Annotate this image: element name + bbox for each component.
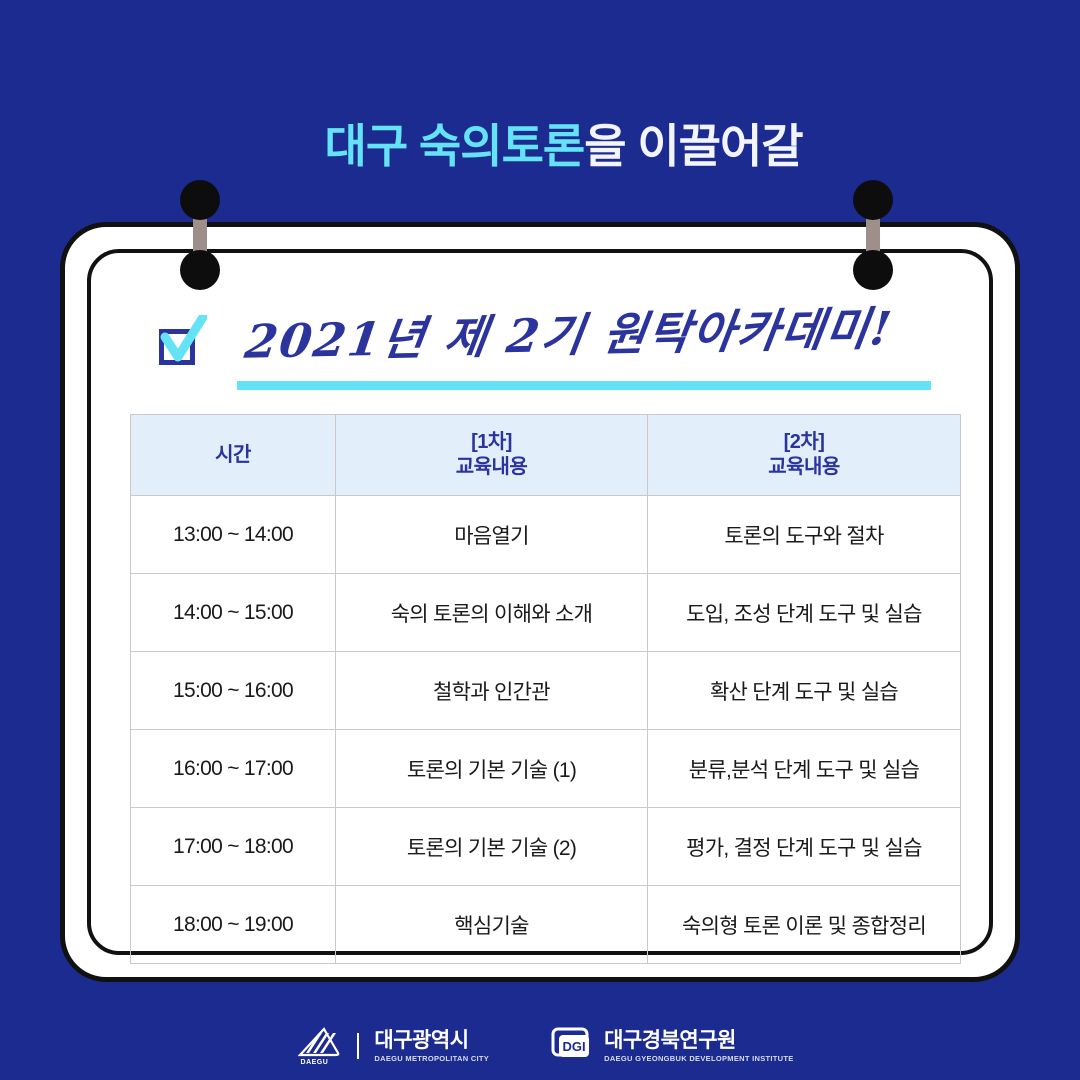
headline-line-1-cyan: 대구 숙의토론 <box>325 120 585 172</box>
column-header-course-1: [1차] 교육내용 <box>336 415 648 496</box>
checkbox-checked-icon <box>155 321 201 367</box>
logo-dgi-en: DAEGU GYEONGBUK DEVELOPMENT INSTITUTE <box>604 1055 793 1063</box>
cell-course-2: 확산 단계 도구 및 실습 <box>648 652 961 730</box>
binder-clip-left-knob-top <box>180 180 220 220</box>
logo-daegu-en: DAEGU METROPOLITAN CITY <box>374 1055 489 1063</box>
table-row: 16:00 ~ 17:00 토론의 기본 기술 (1) 분류,분석 단계 도구 … <box>131 730 961 808</box>
table-header-row: 시간 [1차] 교육내용 [2차] 교육내용 <box>131 415 961 496</box>
daegu-triangle-logo-icon: DAEGU <box>286 1026 342 1066</box>
cell-course-1: 숙의 토론의 이해와 소개 <box>336 574 648 652</box>
binder-clip-left <box>180 180 220 290</box>
headline-line-1-white: 을 이끌어갈 <box>584 120 802 172</box>
binder-clip-left-knob-bottom <box>180 250 220 290</box>
column-header-course-2-line2: 교육내용 <box>649 455 959 480</box>
binder-clip-right <box>853 180 893 290</box>
logo-divider <box>357 1033 359 1059</box>
headline-line-1: 대구 숙의토론을 이끌어갈 <box>0 72 1080 221</box>
column-header-course-2: [2차] 교육내용 <box>648 415 961 496</box>
cell-time: 14:00 ~ 15:00 <box>131 574 336 652</box>
binder-clip-right-knob-bottom <box>853 250 893 290</box>
cell-time: 13:00 ~ 14:00 <box>131 496 336 574</box>
section-title-underline <box>237 381 931 390</box>
logo-daegu-kr: 대구광역시 <box>374 1030 489 1051</box>
logo-daegu-metropolitan-city: DAEGU 대구광역시 DAEGU METROPOLITAN CITY <box>286 1026 489 1066</box>
section-title: 2021년 제 2기 원탁아카데미! <box>241 292 897 371</box>
table-row: 18:00 ~ 19:00 핵심기술 숙의형 토론 이론 및 종합정리 <box>131 886 961 964</box>
column-header-course-1-line1: [1차] <box>337 430 646 455</box>
cell-course-2: 도입, 조성 단계 도구 및 실습 <box>648 574 961 652</box>
binder-clip-right-knob-top <box>853 180 893 220</box>
daegu-mark-label: DAEGU <box>301 1059 329 1066</box>
dgi-square-logo-icon: DGI <box>551 1027 595 1066</box>
schedule-card: 2021년 제 2기 원탁아카데미! 시간 [1차] 교육내용 [2차] 교육내… <box>60 222 1020 982</box>
cell-course-1: 핵심기술 <box>336 886 648 964</box>
svg-text:DGI: DGI <box>563 1039 586 1054</box>
cell-course-1: 토론의 기본 기술 (2) <box>336 808 648 886</box>
column-header-course-2-line1: [2차] <box>649 430 959 455</box>
logo-dgi-kr: 대구경북연구원 <box>604 1030 793 1051</box>
cell-time: 18:00 ~ 19:00 <box>131 886 336 964</box>
cell-course-2: 평가, 결정 단계 도구 및 실습 <box>648 808 961 886</box>
logo-daegu-text: 대구광역시 DAEGU METROPOLITAN CITY <box>374 1030 489 1063</box>
footer-logos: DAEGU 대구광역시 DAEGU METROPOLITAN CITY DGI … <box>0 1026 1080 1066</box>
column-header-time: 시간 <box>131 415 336 496</box>
logo-dgi-text: 대구경북연구원 DAEGU GYEONGBUK DEVELOPMENT INST… <box>604 1030 793 1063</box>
column-header-course-1-line2: 교육내용 <box>337 455 646 480</box>
daegu-triangle-glyph <box>286 1026 342 1058</box>
cell-course-1: 철학과 인간관 <box>336 652 648 730</box>
cell-course-2: 분류,분석 단계 도구 및 실습 <box>648 730 961 808</box>
cell-time: 17:00 ~ 18:00 <box>131 808 336 886</box>
logo-daegu-gyeongbuk-development-institute: DGI 대구경북연구원 DAEGU GYEONGBUK DEVELOPMENT … <box>551 1027 793 1066</box>
cell-course-1: 마음열기 <box>336 496 648 574</box>
table-row: 13:00 ~ 14:00 마음열기 토론의 도구와 절차 <box>131 496 961 574</box>
table-row: 14:00 ~ 15:00 숙의 토론의 이해와 소개 도입, 조성 단계 도구… <box>131 574 961 652</box>
table-row: 15:00 ~ 16:00 철학과 인간관 확산 단계 도구 및 실습 <box>131 652 961 730</box>
check-mark-icon <box>155 315 207 367</box>
table-row: 17:00 ~ 18:00 토론의 기본 기술 (2) 평가, 결정 단계 도구… <box>131 808 961 886</box>
cell-time: 15:00 ~ 16:00 <box>131 652 336 730</box>
schedule-table: 시간 [1차] 교육내용 [2차] 교육내용 13:00 ~ 14:00 마음열… <box>130 414 961 964</box>
cell-time: 16:00 ~ 17:00 <box>131 730 336 808</box>
dgi-square-glyph: DGI <box>551 1027 595 1061</box>
cell-course-1: 토론의 기본 기술 (1) <box>336 730 648 808</box>
table-body: 13:00 ~ 14:00 마음열기 토론의 도구와 절차 14:00 ~ 15… <box>131 496 961 964</box>
table-header: 시간 [1차] 교육내용 [2차] 교육내용 <box>131 415 961 496</box>
cell-course-2: 토론의 도구와 절차 <box>648 496 961 574</box>
column-header-time-line1: 시간 <box>132 443 334 468</box>
section-heading: 2021년 제 2기 원탁아카데미! <box>155 299 955 399</box>
cell-course-2: 숙의형 토론 이론 및 종합정리 <box>648 886 961 964</box>
